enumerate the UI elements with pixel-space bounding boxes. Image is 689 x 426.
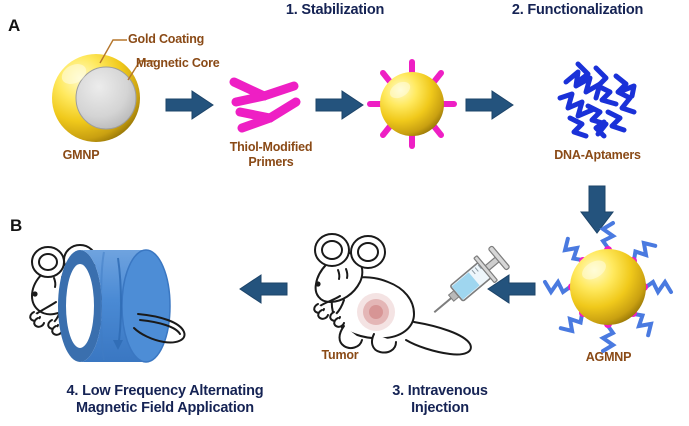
step-title-functionalization: 2. Functionalization	[470, 2, 685, 19]
step-title-injection-line2: Injection	[340, 400, 540, 417]
step-title-magnetic-field-line2: Magnetic Field Application	[20, 400, 310, 417]
arrow-right-icon	[316, 90, 364, 120]
arrow-right-icon	[166, 90, 214, 120]
tumor-label: Tumor	[300, 348, 380, 362]
thiol-primers-label-line2: Primers	[216, 155, 326, 169]
dna-aptamers-label: DNA-Aptamers	[540, 148, 655, 162]
step-title-magnetic-field-line1: 4. Low Frequency Alternating	[20, 383, 310, 400]
thiol-primers-label-line1: Thiol-Modified	[216, 140, 326, 154]
stabilized-nanoparticle-icon	[366, 58, 458, 150]
tumor-spot	[357, 293, 395, 331]
gmnp-label: GMNP	[36, 148, 126, 162]
mouse-in-magnetic-coil-icon	[8, 222, 248, 372]
panel-label-a: A	[8, 16, 20, 36]
step-title-injection-line1: 3. Intravenous	[340, 383, 540, 400]
syringe-icon	[420, 238, 516, 330]
aptamer-conjugated-nanoparticle-icon	[550, 228, 666, 346]
gold-coating-label: Gold Coating	[128, 32, 204, 46]
figure-root: A 1. Stabilization 2. Functionalization	[0, 0, 689, 426]
thiol-modified-primers-icon	[224, 72, 304, 138]
magnetic-core-label: Magnetic Core	[136, 56, 220, 70]
arrow-right-icon	[466, 90, 514, 120]
agmnp-label: AGMNP	[556, 350, 661, 364]
step-title-stabilization: 1. Stabilization	[215, 2, 455, 19]
dna-aptamer-bundle-icon	[548, 56, 644, 148]
